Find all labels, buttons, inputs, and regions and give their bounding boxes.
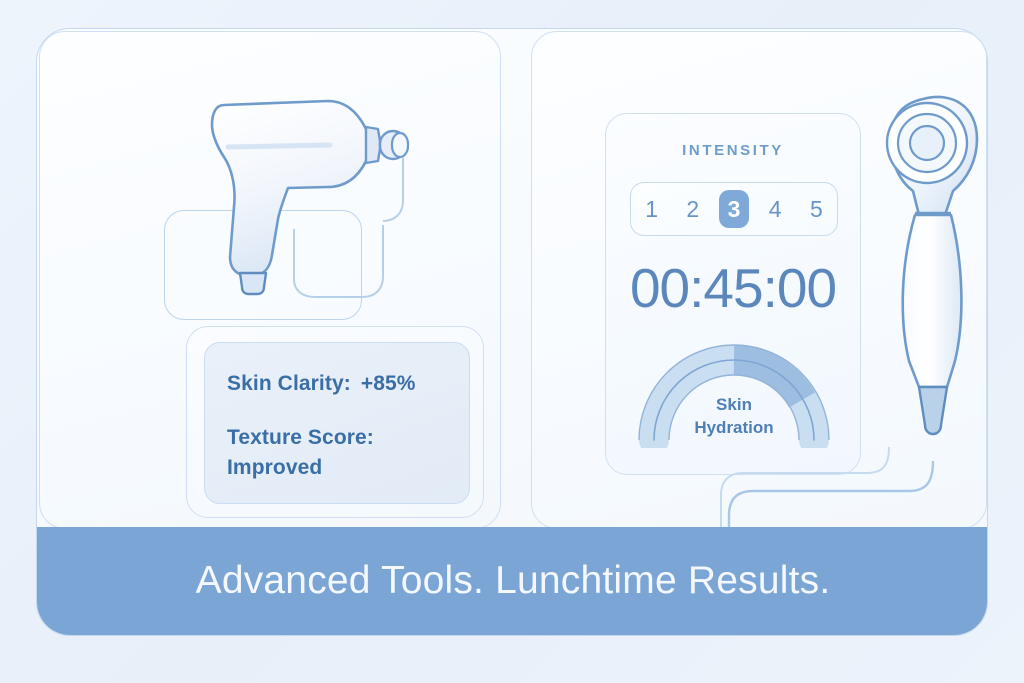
control-panel-card: INTENSITY 1 2 3 4 5 00:45:00 bbox=[605, 113, 861, 475]
gauge-label-line1: Skin bbox=[632, 394, 836, 417]
microdermabrasion-device-icon bbox=[180, 87, 470, 317]
results-card: Skin Clarity:+85% Texture Score: Improve… bbox=[204, 342, 470, 504]
left-panel: Skin Clarity:+85% Texture Score: Improve… bbox=[39, 31, 501, 529]
gauge-label: Skin Hydration bbox=[632, 394, 836, 440]
intensity-level-4[interactable]: 4 bbox=[760, 190, 790, 228]
session-timer: 00:45:00 bbox=[606, 256, 860, 320]
intensity-level-2[interactable]: 2 bbox=[678, 190, 708, 228]
tagline-text: Advanced Tools. Lunchtime Results. bbox=[196, 559, 831, 603]
ultrasonic-wand-device-icon bbox=[875, 87, 988, 507]
intensity-label: INTENSITY bbox=[606, 142, 860, 159]
intensity-level-5[interactable]: 5 bbox=[801, 190, 831, 228]
texture-score-label: Texture Score: bbox=[227, 423, 469, 453]
intensity-level-selector[interactable]: 1 2 3 4 5 bbox=[630, 182, 838, 236]
skin-hydration-gauge: Skin Hydration bbox=[632, 330, 836, 448]
skin-clarity-value: +85% bbox=[361, 372, 416, 395]
intensity-level-3[interactable]: 3 bbox=[719, 190, 749, 228]
tagline-banner: Advanced Tools. Lunchtime Results. bbox=[37, 527, 988, 635]
texture-score-value: Improved bbox=[227, 453, 469, 483]
main-card: Skin Clarity:+85% Texture Score: Improve… bbox=[36, 28, 988, 636]
poster-stage: Skin Clarity:+85% Texture Score: Improve… bbox=[0, 0, 1024, 683]
skin-clarity-row: Skin Clarity:+85% bbox=[227, 369, 469, 399]
intensity-level-1[interactable]: 1 bbox=[637, 190, 667, 228]
skin-clarity-label: Skin Clarity: bbox=[227, 372, 351, 395]
gauge-label-line2: Hydration bbox=[632, 417, 836, 440]
